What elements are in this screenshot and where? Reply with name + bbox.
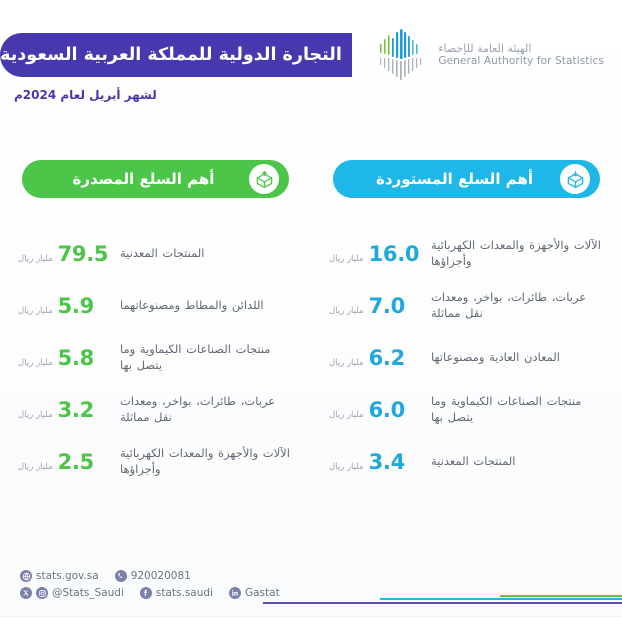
logo-text: الهيئة العامة للإحصاء General Authority … bbox=[438, 43, 604, 68]
item-unit: مليار ريال bbox=[329, 462, 364, 472]
item-label: المنتجات المعدنية bbox=[425, 454, 604, 470]
item-value: 6.0 bbox=[369, 398, 405, 422]
footer-contacts: stats.gov.sa 920020081 bbox=[20, 570, 290, 599]
item-label: الآلات والأجهزة والمعدات الكهربائية وأجز… bbox=[114, 446, 293, 477]
footer-phone[interactable]: 920020081 bbox=[115, 570, 191, 582]
footer-line-1: stats.gov.sa 920020081 bbox=[20, 570, 290, 582]
item-label: اللدائن والمطاط ومصنوعاتهما bbox=[114, 298, 293, 314]
decorative-line-purple bbox=[263, 602, 622, 604]
item-value-group: 5.8 مليار ريال bbox=[18, 346, 114, 370]
footer-facebook[interactable]: stats.saudi bbox=[140, 587, 213, 599]
footer-social-handle-label: @Stats_Saudi bbox=[52, 587, 124, 599]
linkedin-icon bbox=[229, 587, 241, 599]
globe-icon bbox=[20, 570, 32, 582]
footer-facebook-label: stats.saudi bbox=[156, 587, 213, 599]
imports-header-pill: أهم السلع المستوردة bbox=[333, 160, 600, 198]
item-value-group: 6.2 مليار ريال bbox=[329, 346, 425, 370]
page-subtitle: لشهر أبريل لعام 2024م bbox=[14, 88, 157, 102]
footer-website-label: stats.gov.sa bbox=[36, 570, 99, 582]
footer-linkedin[interactable]: Gastat bbox=[229, 587, 280, 599]
phone-icon bbox=[115, 570, 127, 582]
decorative-line-cyan bbox=[380, 598, 622, 600]
imports-column: أهم السلع المستوردة الآلات والأجهزة والم… bbox=[311, 160, 622, 488]
facebook-icon bbox=[140, 587, 152, 599]
item-value-group: 2.5 مليار ريال bbox=[18, 450, 114, 474]
list-item: منتجات الصناعات الكيماوية وما يتصل بها 6… bbox=[325, 384, 608, 436]
item-label: المعادن العادية ومصنوعاتها bbox=[425, 350, 604, 366]
page-title: التجارة الدولية للمملكة العربية السعودية bbox=[0, 45, 342, 65]
export-box-icon bbox=[249, 164, 279, 194]
instagram-icon bbox=[36, 587, 48, 599]
exports-header-pill: أهم السلع المصدرة bbox=[22, 160, 289, 198]
item-unit: مليار ريال bbox=[329, 410, 364, 420]
item-value: 5.8 bbox=[58, 346, 94, 370]
item-unit: مليار ريال bbox=[18, 306, 53, 316]
item-unit: مليار ريال bbox=[18, 462, 53, 472]
item-value: 3.2 bbox=[58, 398, 94, 422]
list-item: الآلات والأجهزة والمعدات الكهربائية وأجز… bbox=[325, 228, 608, 280]
footer-linkedin-label: Gastat bbox=[245, 587, 280, 599]
item-value-group: 6.0 مليار ريال bbox=[329, 398, 425, 422]
item-value: 6.2 bbox=[369, 346, 405, 370]
item-label: منتجات الصناعات الكيماوية وما يتصل بها bbox=[425, 394, 604, 425]
item-value: 79.5 bbox=[58, 242, 109, 266]
gastat-barwave-logo-icon bbox=[372, 28, 430, 82]
item-value-group: 5.9 مليار ريال bbox=[18, 294, 114, 318]
footer-website[interactable]: stats.gov.sa bbox=[20, 570, 99, 582]
item-label: عربات، طائرات، بواخر، ومعدات نقل مماثلة bbox=[114, 394, 293, 425]
item-label: المنتجات المعدنية bbox=[114, 246, 293, 262]
logo-english-name: General Authority for Statistics bbox=[438, 56, 604, 67]
item-value: 3.4 bbox=[369, 450, 405, 474]
item-value-group: 7.0 مليار ريال bbox=[329, 294, 425, 318]
list-item: عربات، طائرات، بواخر، ومعدات نقل مماثلة … bbox=[14, 384, 297, 436]
footer-social-handle[interactable]: @Stats_Saudi bbox=[20, 587, 124, 599]
decorative-line-green bbox=[500, 595, 622, 597]
content-columns: أهم السلع المستوردة الآلات والأجهزة والم… bbox=[0, 160, 622, 488]
bottom-edge bbox=[0, 616, 622, 628]
item-value: 5.9 bbox=[58, 294, 94, 318]
list-item: اللدائن والمطاط ومصنوعاتهما 5.9 مليار ري… bbox=[14, 280, 297, 332]
list-item: الآلات والأجهزة والمعدات الكهربائية وأجز… bbox=[14, 436, 297, 488]
footer-phone-label: 920020081 bbox=[131, 570, 191, 582]
item-unit: مليار ريال bbox=[329, 306, 364, 316]
list-item: عربات، طائرات، بواخر، ومعدات نقل مماثلة … bbox=[325, 280, 608, 332]
item-unit: مليار ريال bbox=[18, 254, 53, 264]
item-value-group: 3.2 مليار ريال bbox=[18, 398, 114, 422]
exports-title: أهم السلع المصدرة bbox=[38, 170, 249, 188]
header: الهيئة العامة للإحصاء General Authority … bbox=[0, 0, 622, 130]
item-unit: مليار ريال bbox=[18, 358, 53, 368]
exports-column: أهم السلع المصدرة المنتجات المعدنية 79.5… bbox=[0, 160, 311, 488]
item-value: 7.0 bbox=[369, 294, 405, 318]
list-item: منتجات الصناعات الكيماوية وما يتصل بها 5… bbox=[14, 332, 297, 384]
list-item: المنتجات المعدنية 3.4 مليار ريال bbox=[325, 436, 608, 488]
footer: stats.gov.sa 920020081 bbox=[0, 558, 622, 628]
item-label: منتجات الصناعات الكيماوية وما يتصل بها bbox=[114, 342, 293, 373]
item-value: 16.0 bbox=[369, 242, 420, 266]
item-value: 2.5 bbox=[58, 450, 94, 474]
item-unit: مليار ريال bbox=[329, 254, 364, 264]
infographic-page: الهيئة العامة للإحصاء General Authority … bbox=[0, 0, 622, 628]
title-banner: التجارة الدولية للمملكة العربية السعودية bbox=[0, 33, 352, 77]
imports-title: أهم السلع المستوردة bbox=[349, 170, 560, 188]
x-twitter-icon bbox=[20, 587, 32, 599]
import-box-icon bbox=[560, 164, 590, 194]
item-unit: مليار ريال bbox=[329, 358, 364, 368]
item-label: عربات، طائرات، بواخر، ومعدات نقل مماثلة bbox=[425, 290, 604, 321]
item-label: الآلات والأجهزة والمعدات الكهربائية وأجز… bbox=[425, 238, 604, 269]
list-item: المنتجات المعدنية 79.5 مليار ريال bbox=[14, 228, 297, 280]
footer-line-2: @Stats_Saudi stats.saudi bbox=[20, 587, 290, 599]
item-value-group: 3.4 مليار ريال bbox=[329, 450, 425, 474]
list-item: المعادن العادية ومصنوعاتها 6.2 مليار ريا… bbox=[325, 332, 608, 384]
item-value-group: 79.5 مليار ريال bbox=[18, 242, 114, 266]
logo-arabic-name: الهيئة العامة للإحصاء bbox=[438, 43, 531, 55]
item-value-group: 16.0 مليار ريال bbox=[329, 242, 425, 266]
item-unit: مليار ريال bbox=[18, 410, 53, 420]
gastat-logo: الهيئة العامة للإحصاء General Authority … bbox=[372, 28, 604, 82]
